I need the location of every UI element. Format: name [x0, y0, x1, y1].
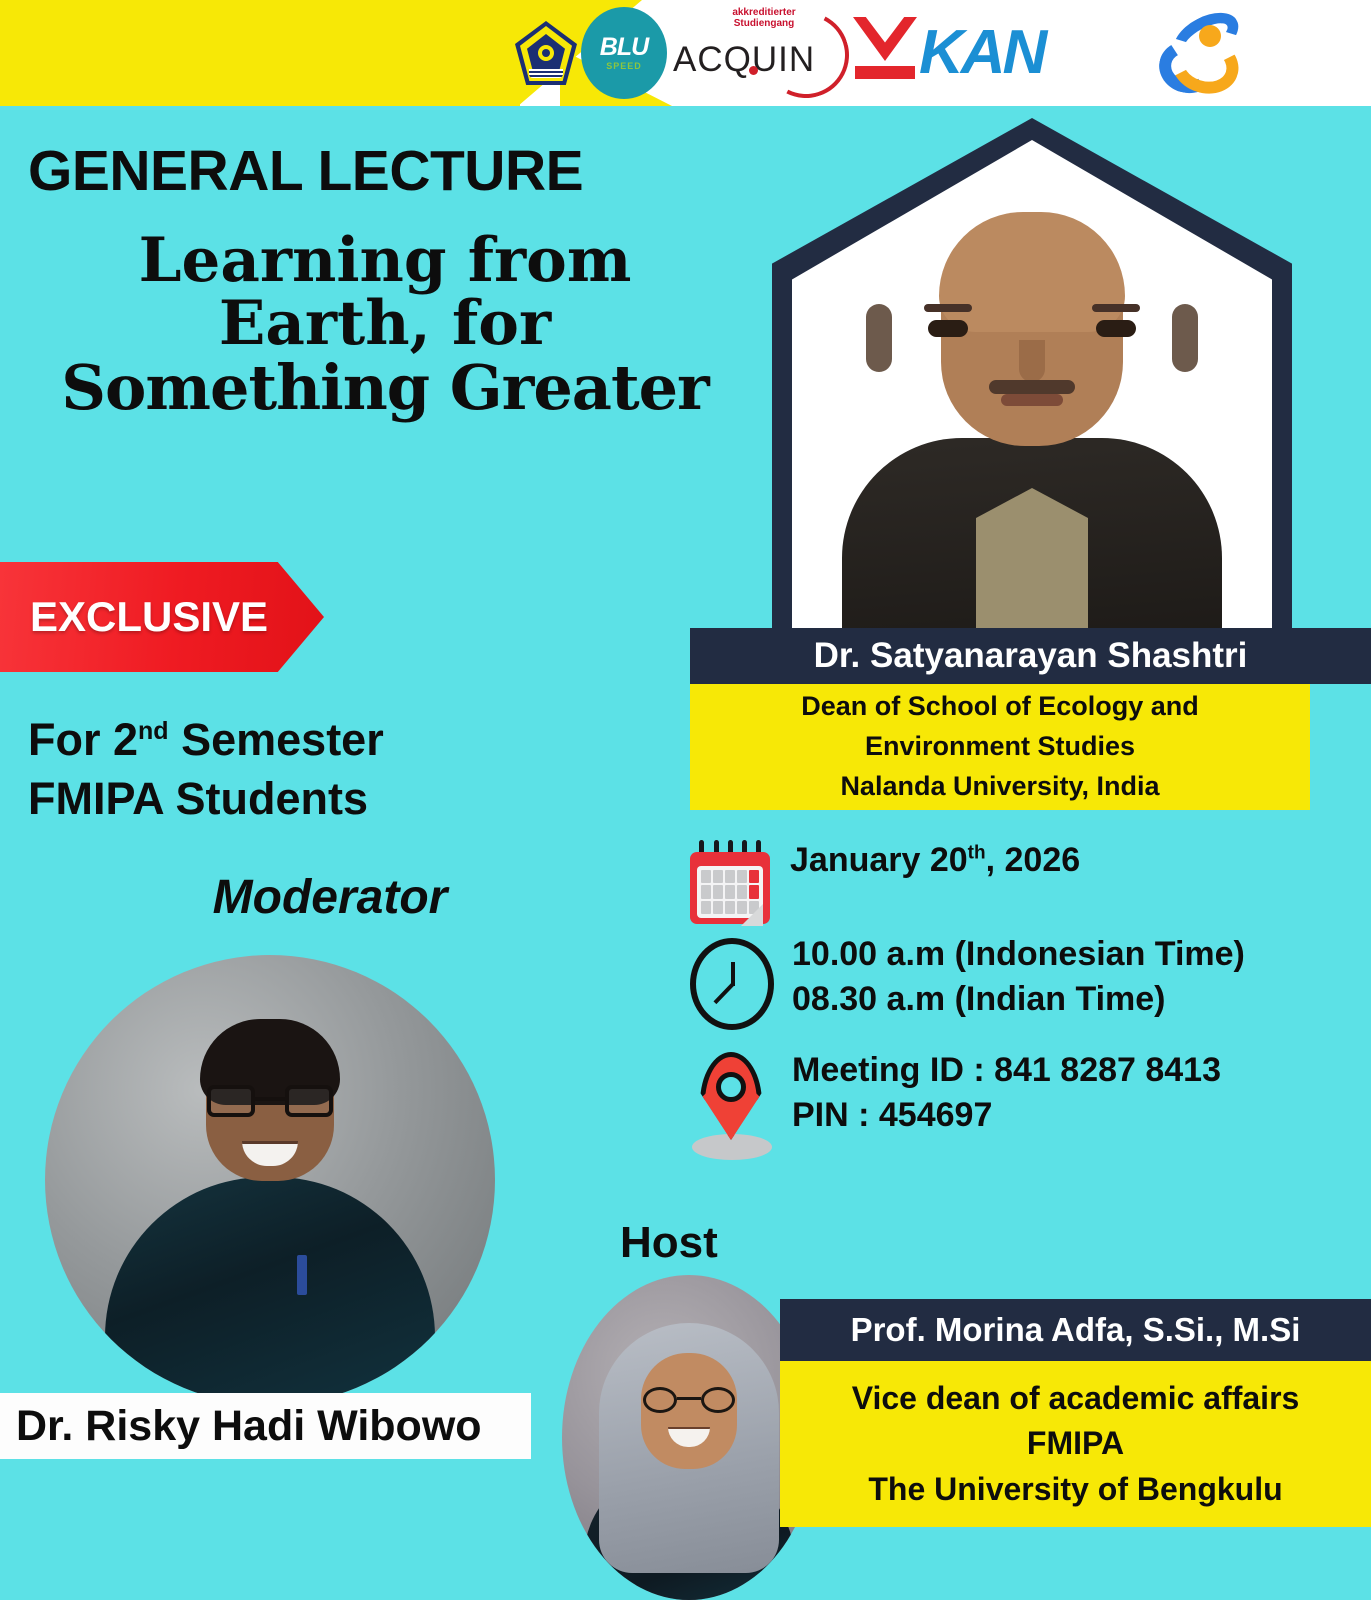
speaker-brow-left	[924, 304, 972, 312]
audience-line-1: For 2nd Semester	[28, 710, 648, 769]
speaker-affiliation-line-1: Dean of School of Ecology and	[801, 687, 1199, 727]
speaker-hair-right	[1172, 304, 1198, 372]
speaker-name-label: Dr. Satyanarayan Shashtri	[814, 636, 1248, 676]
moderator-body	[105, 1177, 435, 1405]
acquin-logo-icon: akkreditierter Studiengang ACQUIN	[671, 4, 843, 102]
meeting-id-text: Meeting ID : 841 8287 8413	[792, 1048, 1221, 1093]
kan-figure-logo-icon	[1155, 11, 1247, 95]
moderator-avatar	[45, 955, 495, 1405]
kan-chevron-v	[853, 17, 917, 61]
exclusive-badge: EXCLUSIVE	[0, 562, 324, 672]
time-line-1: 10.00 a.m (Indonesian Time)	[792, 932, 1245, 977]
detail-row-time: 10.00 a.m (Indonesian Time) 08.30 a.m (I…	[686, 932, 1245, 1036]
pin-hole	[716, 1072, 746, 1102]
host-name-bar: Prof. Morina Adfa, S.Si., M.Si	[780, 1299, 1371, 1361]
kan-figure-head	[1199, 25, 1221, 47]
host-glasses-icon	[643, 1387, 735, 1413]
page-kicker: GENERAL LECTURE	[28, 138, 583, 204]
host-role-line-2: FMIPA	[1027, 1421, 1124, 1466]
speaker-name-bar: Dr. Satyanarayan Shashtri	[690, 628, 1371, 684]
host-name-label: Prof. Morina Adfa, S.Si., M.Si	[851, 1311, 1301, 1349]
header-yellow-block	[0, 0, 520, 106]
blu-logo-text: BLU	[600, 35, 648, 60]
audience-pre: For 2	[28, 714, 138, 765]
speaker-shirt	[976, 488, 1088, 638]
header-logo-bar: BLU SPEED akkreditierter Studiengang ACQ…	[0, 0, 1371, 106]
audience-ordinal: nd	[138, 717, 169, 745]
moderator-label: Moderator	[20, 870, 640, 925]
date-post: , 2026	[986, 841, 1081, 879]
speaker-affiliation-box: Dean of School of Ecology and Environmen…	[690, 684, 1310, 810]
unib-wave	[529, 69, 563, 78]
kan-logo-icon: KAN	[847, 11, 1147, 95]
unib-logo-icon	[515, 21, 577, 85]
speaker-hexagon-frame	[772, 118, 1292, 638]
unib-center-dot	[542, 49, 550, 57]
moderator-glasses-icon	[207, 1085, 333, 1119]
location-pin-icon	[686, 1048, 778, 1160]
speaker-affiliation-line-2: Environment Studies	[865, 727, 1135, 767]
date-text: January 20th, 2026	[790, 838, 1080, 883]
host-role-box: Vice dean of academic affairs FMIPA The …	[780, 1361, 1371, 1527]
exclusive-badge-label: EXCLUSIVE	[30, 593, 268, 641]
speaker-nose	[1019, 340, 1045, 382]
kan-chevron-bar	[855, 66, 915, 79]
audience-line-2: FMIPA Students	[28, 769, 648, 828]
host-role-line-3: The University of Bengkulu	[868, 1467, 1282, 1512]
title-line-1: Learning from	[20, 230, 750, 293]
calendar-grid	[701, 870, 759, 914]
speaker-hair-left	[866, 304, 892, 372]
speaker-brow-right	[1092, 304, 1140, 312]
title-line-2: Earth, for	[20, 293, 750, 356]
moderator-name-label: Dr. Risky Hadi Wibowo	[16, 1402, 482, 1451]
kan-wordmark: KAN	[919, 22, 1044, 84]
calendar-icon	[686, 838, 774, 926]
detail-row-date: January 20th, 2026	[686, 838, 1080, 926]
audience-post: Semester	[169, 714, 384, 765]
date-pre: January 20	[790, 841, 968, 879]
host-role-line-1: Vice dean of academic affairs	[852, 1376, 1300, 1421]
moderator-pen	[297, 1255, 307, 1295]
clock-icon	[686, 932, 778, 1036]
speaker-avatar	[792, 140, 1272, 638]
speaker-moustache	[989, 380, 1075, 394]
audience-text: For 2nd Semester FMIPA Students	[28, 710, 648, 829]
blu-logo-subtext: SPEED	[606, 61, 642, 71]
host-avatar	[562, 1275, 816, 1600]
logo-strip: BLU SPEED akkreditierter Studiengang ACQ…	[505, 0, 1225, 106]
host-label: Host	[620, 1218, 718, 1268]
speaker-eye-right	[1096, 320, 1136, 337]
detail-row-meeting: Meeting ID : 841 8287 8413 PIN : 454697	[686, 1048, 1221, 1160]
acquin-red-dot	[749, 66, 758, 75]
speaker-mouth	[1001, 394, 1063, 406]
blu-speed-logo-icon: BLU SPEED	[581, 7, 667, 99]
moderator-name-banner: Dr. Risky Hadi Wibowo	[0, 1393, 531, 1459]
speaker-affiliation-line-3: Nalanda University, India	[840, 767, 1159, 807]
meeting-text-group: Meeting ID : 841 8287 8413 PIN : 454697	[792, 1048, 1221, 1138]
time-text-group: 10.00 a.m (Indonesian Time) 08.30 a.m (I…	[792, 932, 1245, 1022]
title-line-3: Something Greater	[20, 356, 750, 420]
kan-chevron-icon	[847, 15, 923, 91]
event-poster: BLU SPEED akkreditierter Studiengang ACQ…	[0, 0, 1371, 1600]
meeting-pin-text: PIN : 454697	[792, 1093, 1221, 1138]
speaker-eye-left	[928, 320, 968, 337]
date-ordinal: th	[968, 843, 986, 864]
speaker-forehead	[939, 212, 1125, 332]
time-line-2: 08.30 a.m (Indian Time)	[792, 977, 1245, 1022]
page-title: Learning from Earth, for Something Great…	[20, 230, 750, 420]
